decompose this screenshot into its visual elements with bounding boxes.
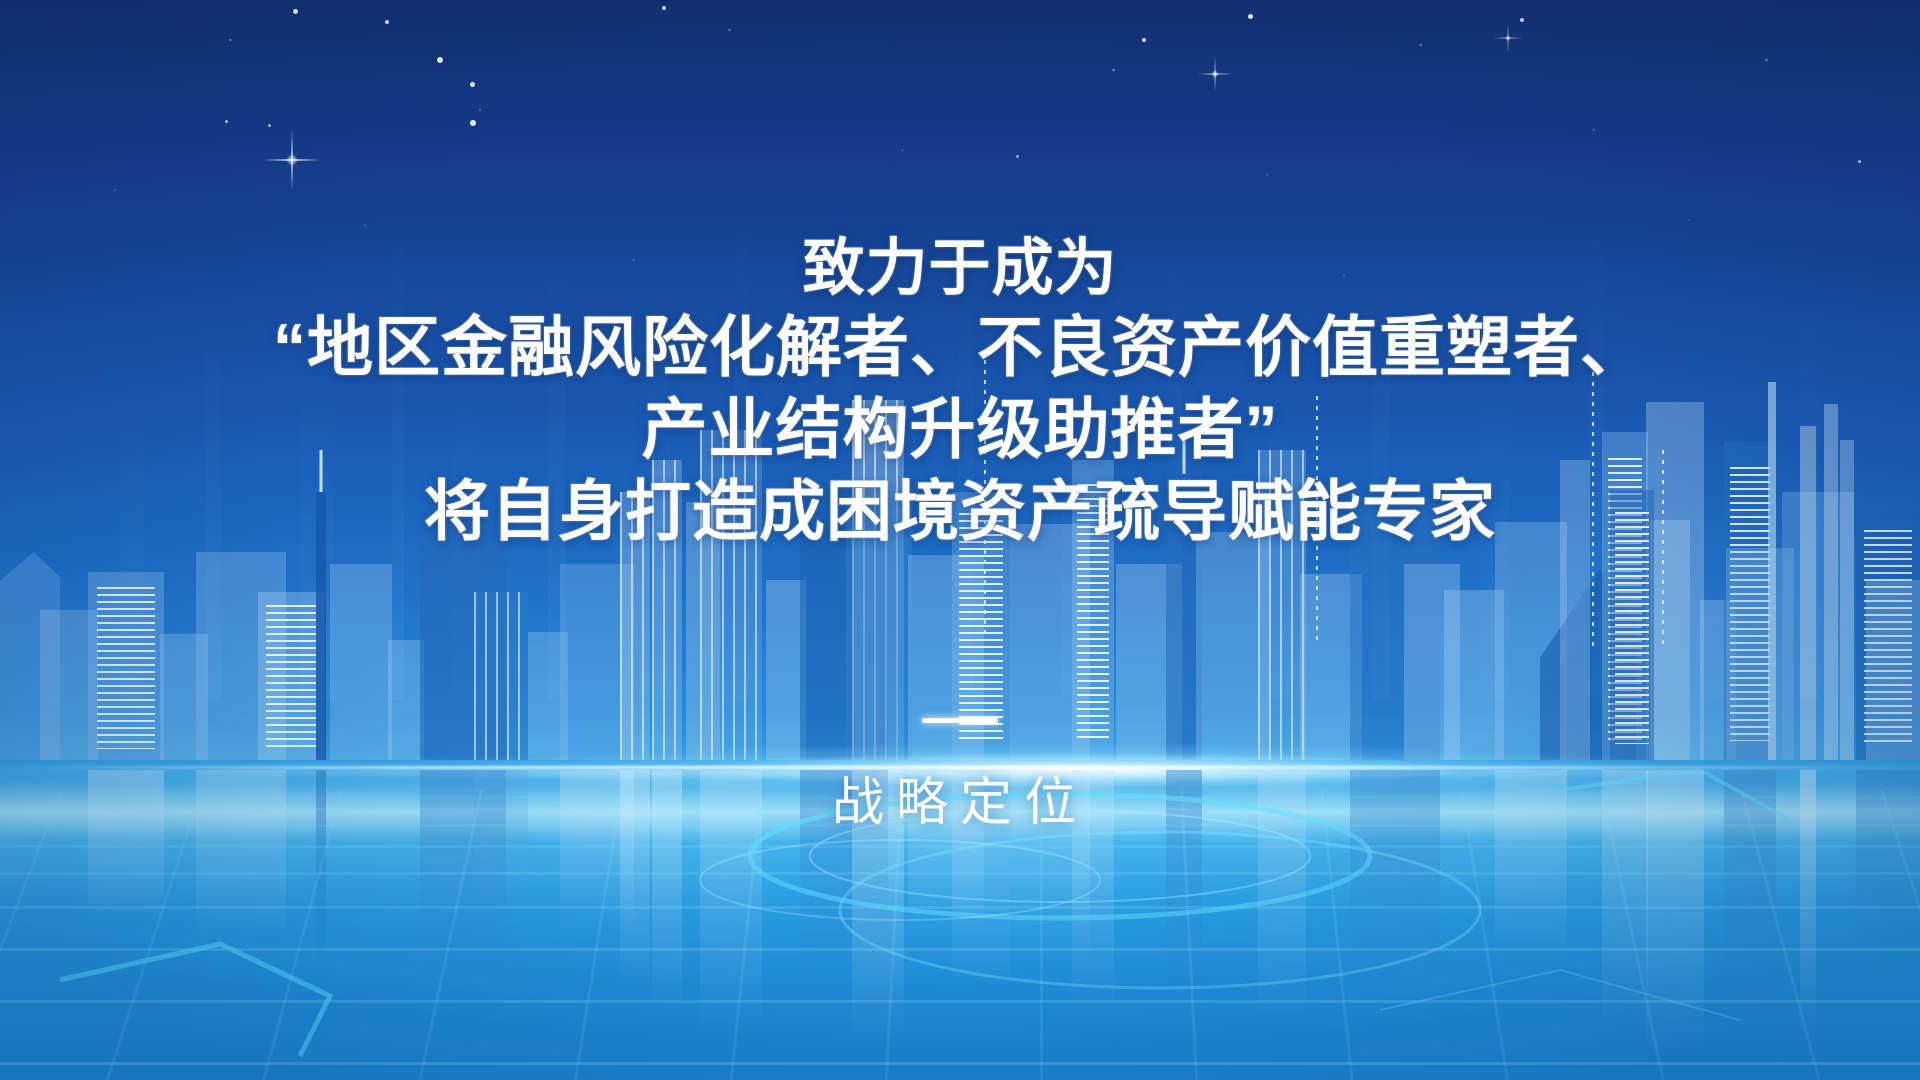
star: [1248, 14, 1253, 19]
star: [470, 82, 475, 87]
sparkle-star: [1197, 56, 1233, 92]
star: [385, 20, 389, 24]
building: [258, 592, 324, 760]
headline-block: 致力于成为 “地区金融风险化解者、不良资产价值重塑者、 产业结构升级助推者” 将…: [0, 238, 1920, 544]
building: [474, 592, 528, 760]
star: [225, 120, 228, 123]
star: [437, 57, 443, 63]
star: [470, 120, 476, 126]
headline-line-1: 致力于成为: [0, 238, 1920, 300]
star: [293, 9, 298, 14]
star: [662, 6, 666, 10]
building: [388, 640, 424, 760]
sparkle-star: [1493, 23, 1523, 53]
sparkle-star: [262, 130, 322, 190]
building: [330, 564, 392, 760]
building: [1866, 580, 1920, 760]
star: [1858, 160, 1861, 163]
headline-line-3: 产业结构升级助推者”: [0, 396, 1920, 462]
building: [88, 572, 164, 760]
star: [1520, 18, 1524, 22]
star: [268, 124, 271, 127]
headline-line-4: 将自身打造成困境资产疏导赋能专家: [0, 478, 1920, 544]
star: [1142, 38, 1146, 42]
presentation-slide: 致力于成为 “地区金融风险化解者、不良资产价值重塑者、 产业结构升级助推者” 将…: [0, 0, 1920, 1080]
subtitle-text: 战略定位: [0, 760, 1920, 835]
subtitle-divider: [922, 718, 998, 723]
headline-line-2: “地区金融风险化解者、不良资产价值重塑者、: [0, 314, 1920, 380]
star: [1016, 155, 1019, 158]
